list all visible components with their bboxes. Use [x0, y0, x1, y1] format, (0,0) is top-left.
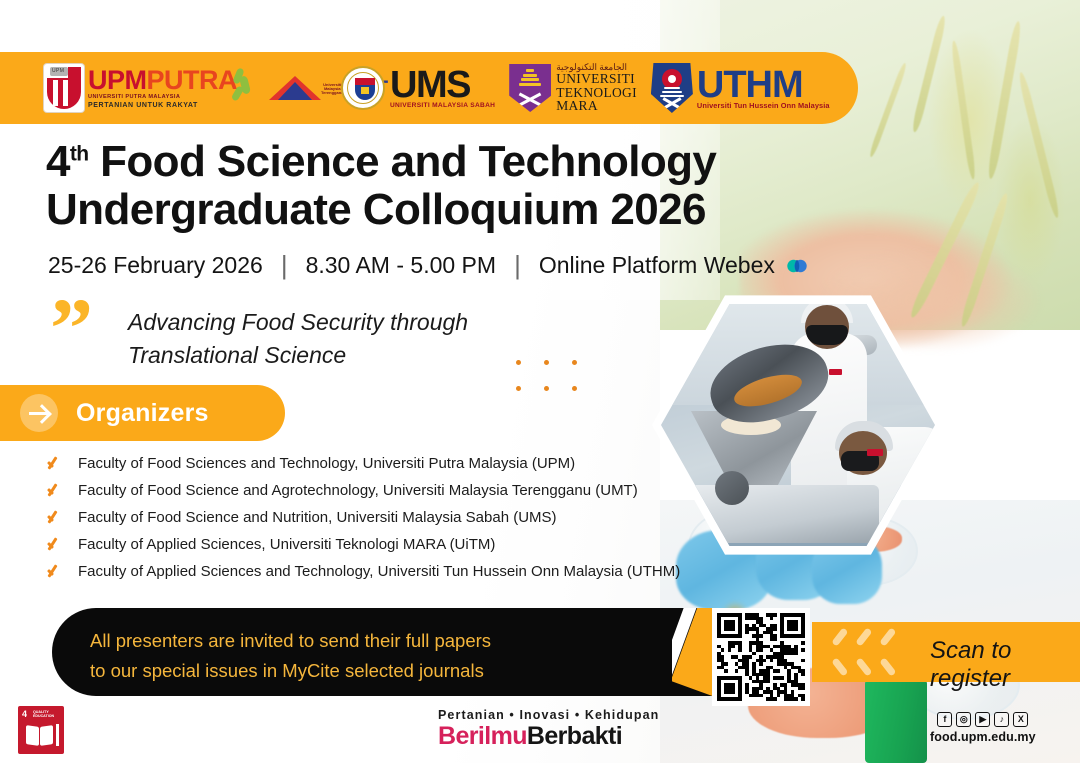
sdg-number: 4 — [22, 710, 27, 719]
event-platform: Online Platform Webex — [539, 252, 775, 279]
organizers-list: Faculty of Food Sciences and Technology,… — [46, 452, 680, 587]
ums-logo-subtitle: UNIVERSITI MALAYSIA SABAH — [390, 103, 495, 110]
uthm-logo-subtitle: Universiti Tun Hussein Onn Malaysia — [697, 102, 830, 109]
sdg-4-quality-education-badge: 4 QUALITY EDUCATION — [18, 706, 64, 754]
list-item: Faculty of Food Sciences and Technology,… — [46, 452, 680, 479]
padi-leaf-icon — [233, 66, 255, 110]
event-title-text1: Food Science and Technology — [100, 137, 716, 186]
upm-putra-logo: UPMPUTRA UNIVERSITI PUTRA MALAYSIA PERTA… — [44, 64, 255, 112]
putra-logo-word: PUTRA — [147, 65, 238, 95]
upm-logo-subtitle: UNIVERSITI PUTRA MALAYSIA — [88, 95, 237, 101]
ums-logo-word: UMS — [390, 66, 495, 104]
list-item: Faculty of Applied Sciences and Technolo… — [46, 560, 680, 587]
note-line2: to our special issues in MyCite selected… — [90, 656, 491, 686]
note-line1: All presenters are invited to send their… — [90, 626, 491, 656]
meta-separator-1: | — [281, 250, 288, 281]
event-ordinal-suffix: th — [70, 142, 89, 165]
sdg-caption: QUALITY EDUCATION — [33, 710, 60, 719]
organizer-name: Faculty of Food Science and Agrotechnolo… — [78, 479, 638, 503]
webex-icon — [785, 254, 809, 278]
scan-to-register-banner: Scan to register — [812, 622, 1080, 682]
upm-institutional-tagline: Pertanian • Inovasi • Kehidupan BerilmuB… — [438, 708, 659, 749]
organizer-name: Faculty of Applied Sciences, Universiti … — [78, 533, 495, 557]
uitm-logo-line3: MARA — [556, 99, 637, 113]
organizers-label: Organizers — [76, 399, 209, 428]
event-meta-row: 25-26 February 2026 | 8.30 AM - 5.00 PM … — [48, 250, 809, 281]
organizers-section-header: Organizers — [0, 385, 285, 441]
instagram-icon[interactable]: ◎ — [956, 712, 971, 727]
upm-crest-icon — [44, 64, 84, 112]
event-date: 25-26 February 2026 — [48, 252, 263, 279]
check-icon — [46, 482, 64, 500]
uitm-logo-line2: TEKNOLOGI — [556, 86, 637, 100]
tiktok-icon[interactable]: ♪ — [994, 712, 1009, 727]
upm-tagline-top: Pertanian • Inovasi • Kehidupan — [438, 708, 659, 722]
event-title-line1: 4th Food Science and Technology — [46, 138, 716, 186]
event-theme: Advancing Food Security through Translat… — [128, 306, 468, 371]
event-ordinal: 4 — [46, 137, 70, 186]
organizer-name: Faculty of Food Sciences and Technology,… — [78, 452, 575, 476]
event-theme-line2: Translational Science — [128, 339, 468, 372]
ums-crest-icon — [341, 66, 385, 110]
event-title-line2: Undergraduate Colloquium 2026 — [46, 186, 716, 234]
uthm-crest-icon — [651, 63, 693, 113]
decorative-dot-grid — [516, 360, 600, 412]
list-item: Faculty of Food Science and Nutrition, U… — [46, 506, 680, 533]
uitm-logo-line1: UNIVERSITI — [556, 72, 637, 86]
check-icon — [46, 536, 64, 554]
list-item: Faculty of Food Science and Agrotechnolo… — [46, 479, 680, 506]
meta-separator-2: | — [514, 250, 521, 281]
website-url[interactable]: food.upm.edu.my — [930, 730, 1036, 744]
partner-logo-bar: UPMPUTRA UNIVERSITI PUTRA MALAYSIA PERTA… — [0, 52, 858, 124]
check-icon — [46, 455, 64, 473]
umt-crest-icon — [269, 76, 321, 100]
organizer-name: Faculty of Applied Sciences and Technolo… — [78, 560, 680, 584]
uthm-logo: UTHM Universiti Tun Hussein Onn Malaysia — [651, 63, 830, 113]
list-item: Faculty of Applied Sciences, Universiti … — [46, 533, 680, 560]
organizer-name: Faculty of Food Science and Nutrition, U… — [78, 506, 557, 530]
umt-logo: Universiti Malaysia Terengganu UMT — [269, 76, 327, 100]
upm-logo-tagline: PERTANIAN UNTUK RAKYAT — [88, 102, 237, 109]
event-title: 4th Food Science and Technology Undergra… — [46, 138, 716, 233]
scan-to-register-label: Scan to register — [930, 637, 1080, 693]
event-time: 8.30 AM - 5.00 PM — [306, 252, 496, 279]
uitm-crest-icon — [509, 64, 551, 112]
chevron-left-icon — [830, 630, 900, 674]
uitm-logo: الجامعة التكنولوجية UNIVERSITI TEKNOLOGI… — [509, 63, 637, 113]
quote-mark-icon: ” — [50, 302, 93, 355]
special-issue-note: All presenters are invited to send their… — [52, 608, 712, 696]
arrow-right-circle-icon — [20, 394, 58, 432]
youtube-icon[interactable]: ▶ — [975, 712, 990, 727]
x-twitter-icon[interactable]: X — [1013, 712, 1028, 727]
social-links: f ◎ ▶ ♪ X food.upm.edu.my — [930, 712, 1036, 744]
event-theme-line1: Advancing Food Security through — [128, 306, 468, 339]
upm-logo-word: UPM — [88, 65, 147, 95]
background-green-bottle — [865, 678, 927, 763]
check-icon — [46, 509, 64, 527]
upm-tagline-berbakti: Berbakti — [527, 722, 622, 750]
check-icon — [46, 563, 64, 581]
registration-qr-code[interactable] — [712, 608, 810, 706]
poster-canvas: UPMPUTRA UNIVERSITI PUTRA MALAYSIA PERTA… — [0, 0, 1080, 763]
uthm-logo-word: UTHM — [697, 66, 830, 104]
ums-logo: UMS UNIVERSITI MALAYSIA SABAH — [341, 66, 495, 110]
open-book-pencil-icon — [26, 724, 56, 746]
upm-tagline-berilmu: Berilmu — [438, 722, 527, 750]
facebook-icon[interactable]: f — [937, 712, 952, 727]
